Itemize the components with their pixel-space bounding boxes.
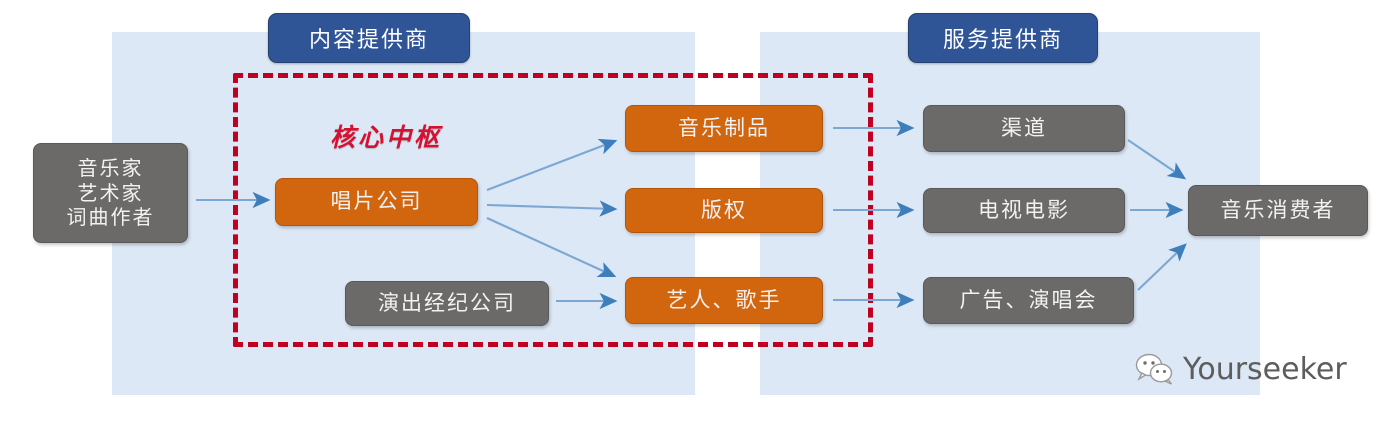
node-performance-agency[interactable]: 演出经纪公司 [345, 281, 549, 326]
node-performance-agency-text: 演出经纪公司 [378, 291, 516, 317]
section-header-service-provider: 服务提供商 [908, 13, 1098, 63]
node-music-products[interactable]: 音乐制品 [625, 105, 823, 152]
node-creators-line-2: 艺术家 [78, 181, 144, 205]
section-header-content-provider: 内容提供商 [268, 13, 470, 63]
node-music-consumers[interactable]: 音乐消费者 [1188, 185, 1368, 236]
node-record-label-text: 唱片公司 [331, 189, 423, 215]
node-record-label[interactable]: 唱片公司 [275, 178, 478, 226]
wechat-icon [1135, 353, 1175, 387]
node-artists-singers-text: 艺人、歌手 [667, 288, 782, 314]
node-creators[interactable]: 音乐家 艺术家 词曲作者 [33, 143, 188, 243]
node-ads-concerts-text: 广告、演唱会 [960, 288, 1098, 314]
node-music-products-text: 音乐制品 [678, 116, 770, 142]
watermark-text: Yourseeker [1183, 352, 1347, 387]
node-artists-singers[interactable]: 艺人、歌手 [625, 277, 823, 324]
node-ads-concerts[interactable]: 广告、演唱会 [923, 277, 1134, 324]
diagram-canvas: 内容提供商 服务提供商 核心中枢 音乐家 艺术家 词曲作者 唱片公司 演出经纪公… [0, 0, 1397, 427]
node-channels[interactable]: 渠道 [923, 105, 1125, 152]
node-music-consumers-text: 音乐消费者 [1221, 198, 1336, 224]
node-creators-line-3: 词曲作者 [67, 205, 155, 229]
node-channels-text: 渠道 [1001, 116, 1047, 142]
node-tv-film[interactable]: 电视电影 [923, 188, 1125, 233]
watermark: Yourseeker [1135, 352, 1347, 387]
node-copyright-text: 版权 [701, 198, 747, 224]
core-hub-annotation: 核心中枢 [330, 118, 442, 154]
node-copyright[interactable]: 版权 [625, 188, 823, 233]
node-tv-film-text: 电视电影 [978, 198, 1070, 224]
node-creators-line-1: 音乐家 [78, 156, 144, 180]
